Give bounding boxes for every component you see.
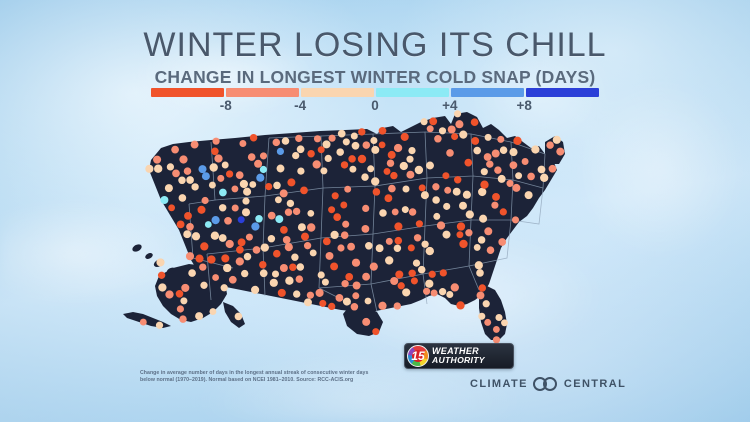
station-dot <box>402 288 410 296</box>
legend-tick-0: -8 <box>220 98 232 113</box>
station-dot <box>464 159 472 167</box>
station-dot <box>556 148 564 156</box>
station-dot <box>459 202 467 210</box>
station-dot <box>384 194 392 202</box>
station-dot <box>226 170 233 177</box>
climate-central-rings-icon <box>533 377 559 391</box>
station-dot <box>365 298 372 305</box>
station-dot <box>414 234 421 241</box>
station-dot <box>351 303 359 311</box>
station-dot <box>179 315 186 322</box>
station-dot <box>500 146 508 154</box>
station-dot <box>475 261 483 269</box>
station-dot <box>386 238 393 245</box>
us-map <box>115 108 635 374</box>
station-dot <box>202 197 209 204</box>
station-dot <box>509 148 517 156</box>
station-dot <box>221 284 228 291</box>
station-dot <box>443 203 450 210</box>
station-dot <box>401 133 409 141</box>
station-dot <box>415 166 423 174</box>
station-dot <box>291 254 298 261</box>
station-dot <box>180 297 187 304</box>
station-dot <box>265 183 272 190</box>
station-dot <box>388 185 396 193</box>
station-dot <box>297 263 305 271</box>
station-dot <box>371 146 379 154</box>
station-dot <box>179 155 187 163</box>
station-dot <box>400 162 408 170</box>
station-dot <box>442 231 450 239</box>
station-dot <box>385 256 393 264</box>
station-dot <box>250 134 258 142</box>
station-dot <box>241 270 248 277</box>
station-dot <box>153 156 161 164</box>
station-dot <box>394 302 401 309</box>
station-dot <box>425 280 433 288</box>
station-dot <box>219 204 226 211</box>
station-dot <box>398 282 405 289</box>
station-dot <box>363 141 371 149</box>
station-dot <box>275 215 283 223</box>
legend: -8-40+4+8 <box>0 88 750 116</box>
station-dot <box>494 166 501 173</box>
footnote: Change in average number of days in the … <box>140 370 440 385</box>
station-dot <box>199 263 206 270</box>
station-dot <box>454 176 461 183</box>
station-dot <box>351 132 358 139</box>
station-dot <box>457 222 465 230</box>
station-dot <box>325 155 332 162</box>
station-dot <box>439 288 446 295</box>
station-dot <box>497 136 504 143</box>
station-dot <box>195 255 203 263</box>
station-dot <box>307 292 314 299</box>
station-dot <box>373 188 381 196</box>
page-subtitle: CHANGE IN LONGEST WINTER COLD SNAP (DAYS… <box>0 62 750 87</box>
station-dot <box>186 252 194 260</box>
station-dot <box>295 135 302 142</box>
legend-segment-4 <box>451 88 524 97</box>
station-dot <box>513 137 521 145</box>
station-dot <box>188 269 196 277</box>
station-dot <box>300 187 308 195</box>
station-dot <box>487 246 495 254</box>
station-logo: 15 WEATHER AUTHORITY <box>404 343 514 369</box>
station-dot <box>273 250 281 258</box>
station-dot <box>498 238 506 246</box>
station-dot <box>408 244 415 251</box>
station-dot <box>202 172 210 180</box>
station-dot <box>198 165 206 173</box>
station-dot <box>421 241 428 248</box>
station-dot <box>402 185 409 192</box>
station-dot <box>388 151 396 159</box>
station-dot <box>455 120 463 128</box>
station-dot <box>522 158 529 165</box>
station-dot <box>395 270 403 278</box>
station-dot <box>390 172 397 179</box>
station-logo-text: WEATHER AUTHORITY <box>432 347 485 365</box>
station-dot <box>209 308 216 315</box>
station-dot <box>478 313 485 320</box>
station-dot <box>474 244 481 251</box>
station-dot <box>277 148 284 155</box>
climate-central-word-1: CLIMATE <box>470 378 528 390</box>
station-dot <box>384 168 391 175</box>
station-dot <box>251 222 259 230</box>
station-dot <box>242 208 250 216</box>
legend-tick-labels: -8-40+4+8 <box>151 98 599 116</box>
station-badge-icon: 15 <box>407 345 429 367</box>
station-dot <box>337 244 344 251</box>
station-dot <box>224 217 232 225</box>
station-dot <box>280 264 288 272</box>
station-dot <box>348 155 356 163</box>
station-dot <box>211 232 219 240</box>
station-dot <box>307 150 315 158</box>
station-dot <box>439 127 446 134</box>
station-dot <box>209 182 216 189</box>
station-dot <box>432 183 439 190</box>
station-dot <box>426 247 434 255</box>
station-dot <box>433 213 440 220</box>
station-dot <box>352 259 360 267</box>
station-dot <box>273 139 281 147</box>
station-dot <box>512 216 519 223</box>
station-dot <box>390 277 398 285</box>
station-dot <box>349 166 356 173</box>
station-dot <box>463 191 471 199</box>
station-dot <box>376 244 384 252</box>
station-dot <box>538 166 546 174</box>
station-dot <box>304 242 311 249</box>
station-dot <box>171 146 179 154</box>
station-dot <box>459 240 467 248</box>
station-dot <box>160 196 168 204</box>
station-dot <box>320 167 327 174</box>
station-dot <box>525 191 533 199</box>
station-dot <box>318 271 325 278</box>
station-dot <box>316 289 324 297</box>
station-dot <box>243 188 251 196</box>
station-dot <box>200 242 208 250</box>
legend-segment-0 <box>151 88 224 97</box>
station-dot <box>353 282 361 290</box>
station-dot <box>418 266 426 274</box>
station-dot <box>207 255 215 263</box>
legend-tick-2: 0 <box>371 98 379 113</box>
station-dot <box>408 147 415 154</box>
station-dot <box>453 188 461 196</box>
station-dot <box>280 226 288 234</box>
station-dot <box>272 270 279 277</box>
station-dot <box>314 135 321 142</box>
station-dot <box>495 314 502 321</box>
station-dot <box>484 319 491 326</box>
station-dot <box>479 215 487 223</box>
station-dot <box>531 145 539 153</box>
station-dot <box>213 138 220 145</box>
station-dot <box>342 221 349 228</box>
station-dot <box>219 189 227 197</box>
station-dot <box>268 235 275 242</box>
station-dot <box>421 118 428 125</box>
station-dot <box>361 173 368 180</box>
station-dot <box>268 212 276 220</box>
station-dot <box>214 154 222 162</box>
station-dot <box>451 133 458 140</box>
station-dot <box>195 312 203 320</box>
station-dot <box>379 141 386 148</box>
station-dot <box>211 216 219 224</box>
station-dot <box>478 236 486 244</box>
station-dot <box>191 141 199 149</box>
station-dot <box>431 289 438 296</box>
station-dot <box>392 208 399 215</box>
station-dot <box>285 208 292 215</box>
station-dot <box>370 263 378 271</box>
station-dot <box>484 153 492 161</box>
station-dot <box>370 137 377 144</box>
station-dot <box>298 223 306 231</box>
station-dot <box>500 208 507 215</box>
station-dot <box>176 290 184 298</box>
station-dot <box>273 182 281 190</box>
station-dot <box>310 249 317 256</box>
station-dot <box>446 291 453 298</box>
station-dot <box>287 200 294 207</box>
station-dot <box>296 275 304 283</box>
station-dot <box>292 152 299 159</box>
station-dot <box>186 223 194 231</box>
station-dot <box>471 137 479 145</box>
station-dot <box>307 223 315 231</box>
station-dot <box>540 174 548 182</box>
station-number: 15 <box>411 350 424 362</box>
station-dot <box>260 269 268 277</box>
station-dot <box>278 289 286 297</box>
station-dot <box>319 300 326 307</box>
station-dot <box>178 177 185 184</box>
station-dot <box>477 291 485 299</box>
station-dot <box>240 180 248 188</box>
station-dot <box>280 189 288 197</box>
station-dot <box>260 152 267 159</box>
station-dot <box>210 163 218 171</box>
page-title: WINTER LOSING ITS CHILL <box>0 0 750 62</box>
station-dot <box>260 166 267 173</box>
station-dot <box>394 222 402 230</box>
station-dot <box>486 161 493 168</box>
station-dot <box>406 171 414 179</box>
station-dot <box>270 279 278 287</box>
station-dot <box>235 313 243 321</box>
station-dot <box>402 206 409 213</box>
station-dot <box>362 318 370 326</box>
station-dot <box>184 212 192 220</box>
station-dot <box>226 240 234 248</box>
climate-central-logo: CLIMATE CENTRAL <box>470 377 626 391</box>
station-dot <box>429 117 437 125</box>
station-dot <box>165 290 173 298</box>
legend-tick-1: -4 <box>294 98 306 113</box>
station-dot <box>158 283 166 291</box>
station-dot <box>344 186 351 193</box>
station-dot <box>289 263 297 271</box>
station-dot <box>416 220 423 227</box>
station-dot <box>191 183 198 190</box>
station-dot <box>232 204 239 211</box>
station-logo-line-2: AUTHORITY <box>432 356 485 365</box>
footnote-line-1: Change in average number of days in the … <box>140 370 440 377</box>
station-dot <box>254 160 262 168</box>
station-dot <box>255 215 263 223</box>
station-dot <box>371 177 379 185</box>
station-dot <box>249 181 256 188</box>
station-dot <box>236 257 244 265</box>
station-dot <box>212 274 219 281</box>
station-dot <box>256 174 264 182</box>
station-dot <box>217 175 224 182</box>
station-dot <box>328 206 335 213</box>
station-dot <box>498 175 506 183</box>
legend-tick-4: +8 <box>516 98 531 113</box>
station-dot <box>434 135 442 143</box>
station-dot <box>238 216 245 223</box>
station-dot <box>478 188 486 196</box>
station-dot <box>341 161 348 168</box>
header: WINTER LOSING ITS CHILL CHANGE IN LONGES… <box>0 0 750 87</box>
station-dot <box>248 153 256 161</box>
station-dot <box>323 238 331 246</box>
station-dot <box>184 167 192 175</box>
station-dot <box>448 126 456 134</box>
station-dot <box>313 160 321 168</box>
station-dot <box>236 171 244 179</box>
station-dot <box>219 234 227 242</box>
station-dot <box>301 233 309 241</box>
station-dot <box>156 322 163 329</box>
station-dot <box>156 258 164 266</box>
legend-colorbar <box>151 88 599 97</box>
station-dot <box>338 130 346 138</box>
station-dot <box>358 128 365 135</box>
station-dot <box>181 284 189 292</box>
station-dot <box>442 172 449 179</box>
station-dot <box>362 205 369 212</box>
station-dot <box>379 127 387 135</box>
station-dot <box>332 192 339 199</box>
station-dot <box>446 149 454 157</box>
station-dot <box>285 243 293 251</box>
station-dot <box>426 162 434 170</box>
station-dot <box>341 231 349 239</box>
station-dot <box>352 292 359 299</box>
station-dot <box>440 269 447 276</box>
station-dot <box>394 144 402 152</box>
station-dot <box>501 319 508 326</box>
station-dot <box>330 262 338 270</box>
station-dot <box>361 225 369 233</box>
station-dot <box>322 279 329 286</box>
station-dot <box>409 208 416 215</box>
station-dot <box>413 259 420 266</box>
station-dot <box>506 180 513 187</box>
station-dot <box>423 288 430 295</box>
station-dot <box>222 162 229 169</box>
station-dot <box>553 136 561 144</box>
station-dot <box>515 172 522 179</box>
station-dot <box>340 202 347 209</box>
station-dot <box>394 245 401 252</box>
station-dot <box>246 234 253 241</box>
station-dot <box>512 184 520 192</box>
station-dot <box>343 138 350 145</box>
aleutian-chain <box>123 312 171 328</box>
station-dot <box>481 168 488 175</box>
legend-segment-3 <box>376 88 449 97</box>
station-dot <box>285 277 293 285</box>
station-dot <box>387 159 394 166</box>
hawaii-landmass <box>131 243 176 276</box>
station-dot <box>479 284 486 291</box>
station-dot <box>347 243 355 251</box>
station-dot <box>154 165 162 173</box>
station-dot <box>341 280 348 287</box>
station-dot <box>238 238 246 246</box>
station-dot <box>304 298 312 306</box>
station-dot <box>546 141 554 149</box>
legend-segment-5 <box>526 88 599 97</box>
station-dot <box>352 142 360 150</box>
station-dot <box>318 146 325 153</box>
station-dot <box>345 273 353 281</box>
station-dot <box>484 227 492 235</box>
station-dot <box>183 230 191 238</box>
climate-central-word-2: CENTRAL <box>564 378 626 390</box>
station-dot <box>358 155 366 163</box>
station-dot <box>492 193 500 201</box>
station-dot <box>408 270 415 277</box>
station-dot <box>419 184 426 191</box>
station-dot <box>527 173 535 181</box>
station-dot <box>168 204 175 211</box>
legend-segment-2 <box>301 88 374 97</box>
station-dot <box>427 125 434 132</box>
map-container <box>0 108 750 376</box>
station-dot <box>437 221 445 229</box>
station-dot <box>444 187 451 194</box>
station-dot <box>231 185 238 192</box>
station-dot <box>485 134 492 141</box>
station-dot <box>510 161 518 169</box>
station-dot <box>261 243 269 251</box>
station-dot <box>297 145 305 153</box>
station-dot <box>549 165 557 173</box>
station-dot <box>165 184 173 192</box>
station-dot <box>205 221 212 228</box>
station-dot <box>493 326 500 333</box>
station-dot <box>343 298 351 306</box>
station-dot <box>476 269 484 277</box>
station-dot <box>406 156 413 163</box>
station-dot <box>251 286 259 294</box>
station-dot <box>177 305 184 312</box>
footnote-line-2: below normal (1970–2019). Normal based o… <box>140 377 440 384</box>
legend-tick-3: +4 <box>442 98 457 113</box>
station-dot <box>459 131 467 139</box>
